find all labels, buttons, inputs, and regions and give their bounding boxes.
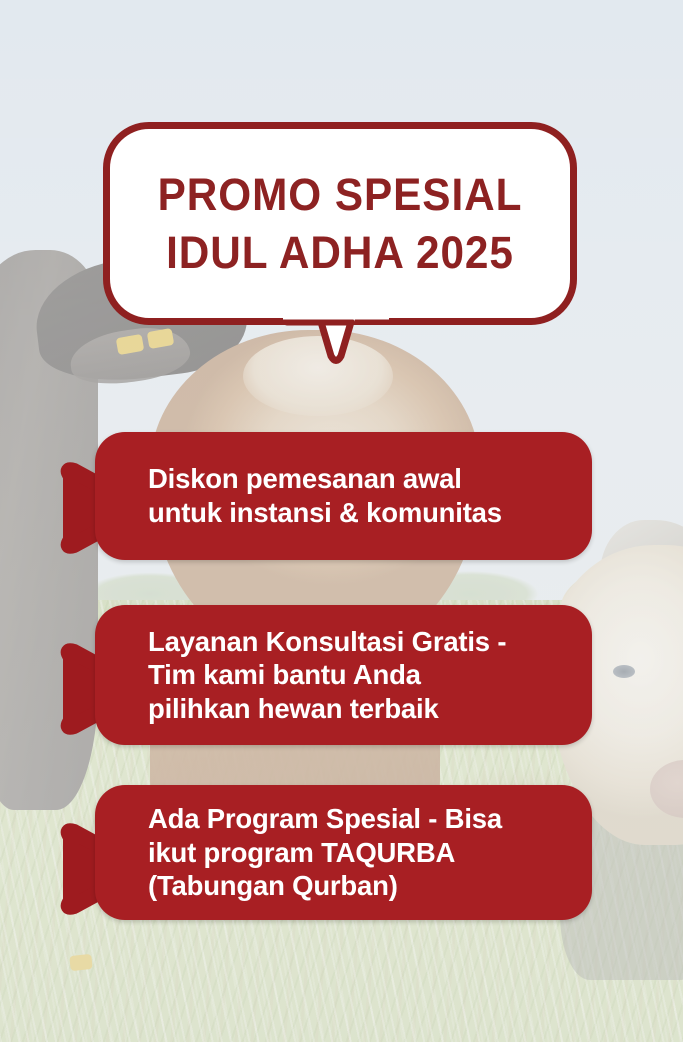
benefit-banner-2: Layanan Konsultasi Gratis - Tim kami ban… [95,605,592,745]
headline-speech-bubble: PROMO SPESIAL IDUL ADHA 2025 [103,122,577,325]
headline-line-2: IDUL ADHA 2025 [166,224,514,281]
benefit-text-2: Layanan Konsultasi Gratis - Tim kami ban… [95,625,528,726]
poster-content: PROMO SPESIAL IDUL ADHA 2025 Diskon peme… [0,0,683,1042]
benefit-text-1: Diskon pemesanan awal untuk instansi & k… [95,462,524,529]
benefit-banner-1: Diskon pemesanan awal untuk instansi & k… [95,432,592,560]
promo-poster: PROMO SPESIAL IDUL ADHA 2025 Diskon peme… [0,0,683,1042]
speech-bubble-tail [283,312,389,374]
benefit-banner-3: Ada Program Spesial - Bisa ikut program … [95,785,592,920]
headline-line-1: PROMO SPESIAL [158,166,523,223]
benefit-text-3: Ada Program Spesial - Bisa ikut program … [95,802,524,903]
